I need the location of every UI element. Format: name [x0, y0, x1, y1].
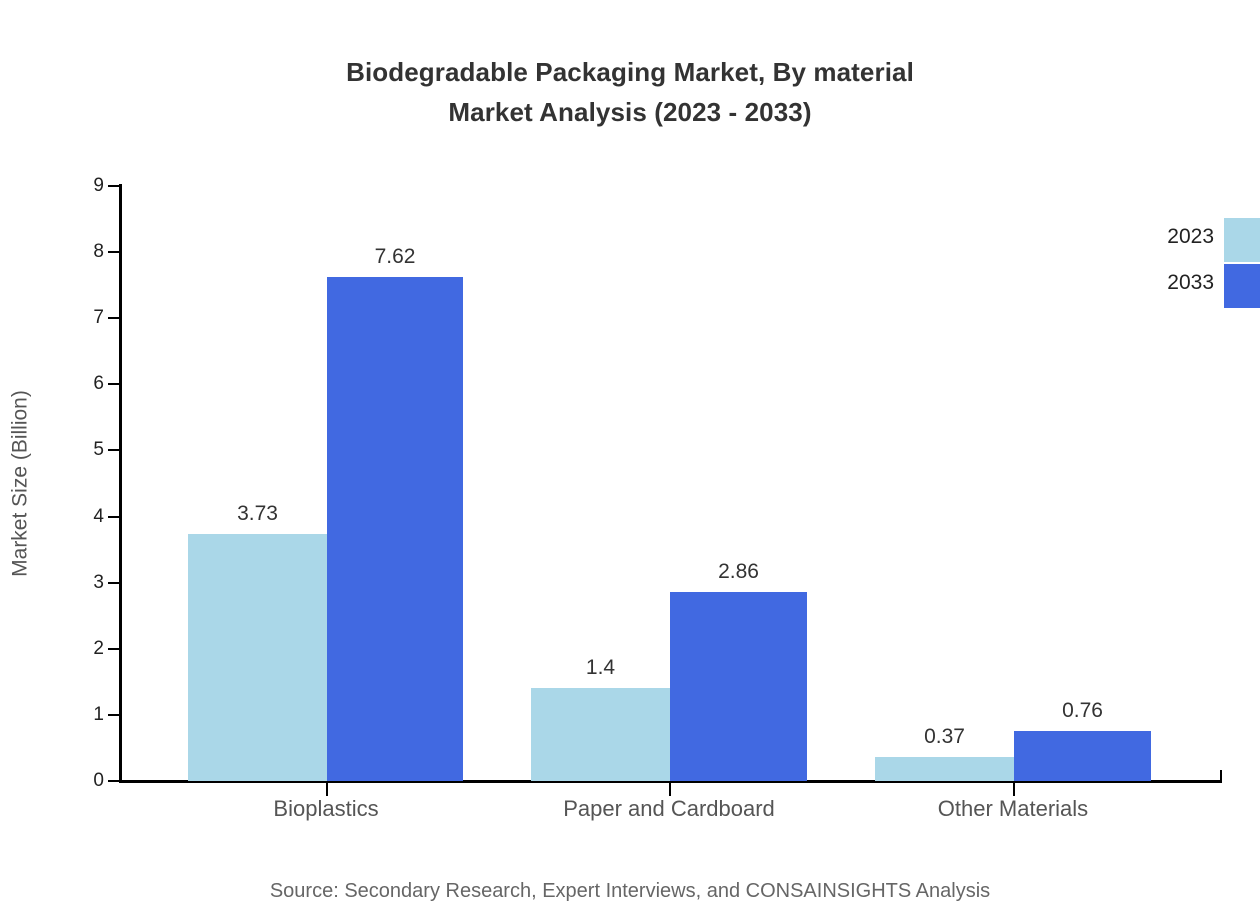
bar-2033-bioplastics[interactable]: [327, 277, 463, 781]
y-axis-tick: [108, 251, 122, 253]
y-axis-tick: [108, 317, 122, 319]
bar-value-label: 2.86: [669, 561, 809, 582]
y-axis-tick-label: 1: [64, 705, 104, 724]
chart-title: Biodegradable Packaging Market, By mater…: [0, 52, 1260, 132]
y-axis-title: Market Size (Billion): [0, 0, 40, 920]
x-axis-category-label: Bioplastics: [126, 795, 526, 823]
legend-item-2023[interactable]: 2023: [1130, 218, 1260, 264]
y-axis-tick-label: 7: [64, 308, 104, 327]
y-axis-tick-label: 8: [64, 242, 104, 261]
bar-2023-bioplastics[interactable]: [188, 534, 327, 781]
y-axis-tick: [108, 582, 122, 584]
y-axis-tick: [108, 383, 122, 385]
x-axis-category-label: Paper and Cardboard: [469, 795, 869, 823]
y-axis-tick-label: 9: [64, 176, 104, 195]
bar-2033-other-materials[interactable]: [1014, 731, 1151, 781]
bar-value-label: 1.4: [531, 657, 671, 678]
chart-title-line-1: Biodegradable Packaging Market, By mater…: [0, 52, 1260, 92]
chart-container: Biodegradable Packaging Market, By mater…: [0, 0, 1260, 920]
bar-2023-paper-and-cardboard[interactable]: [531, 688, 670, 781]
source-note: Source: Secondary Research, Expert Inter…: [0, 878, 1260, 904]
y-axis-tick-label: 5: [64, 440, 104, 459]
bar-2033-paper-and-cardboard[interactable]: [670, 592, 807, 781]
chart-title-line-2: Market Analysis (2023 - 2033): [0, 92, 1260, 132]
bar-value-label: 0.76: [1013, 700, 1153, 721]
legend-swatch-2033: [1224, 264, 1260, 308]
legend-item-2033[interactable]: 2033: [1130, 264, 1260, 310]
y-axis-tick: [108, 185, 122, 187]
y-axis-tick: [108, 780, 122, 782]
bar-value-label: 7.62: [325, 246, 465, 267]
x-axis-end-tick: [1220, 770, 1222, 783]
y-axis-tick-label: 3: [64, 573, 104, 592]
y-axis-title-label: Market Size (Billion): [10, 259, 31, 709]
bar-value-label: 3.73: [188, 503, 328, 524]
chart-legend: 2023 2033: [1130, 218, 1260, 318]
legend-swatch-2023: [1224, 218, 1260, 262]
y-axis-tick-label: 6: [64, 374, 104, 393]
y-axis-tick: [108, 449, 122, 451]
y-axis-tick: [108, 714, 122, 716]
plot-area: 3.737.621.42.860.370.76: [122, 186, 1222, 781]
legend-label-2023: 2023: [1130, 226, 1214, 247]
y-axis-tick-label: 4: [64, 507, 104, 526]
y-axis-tick: [108, 648, 122, 650]
bar-value-label: 0.37: [875, 726, 1015, 747]
y-axis-tick-label: 0: [64, 771, 104, 790]
bar-2023-other-materials[interactable]: [875, 757, 1014, 781]
legend-label-2033: 2033: [1130, 272, 1214, 293]
y-axis-tick: [108, 516, 122, 518]
y-axis-tick-label: 2: [64, 639, 104, 658]
x-axis-category-label: Other Materials: [813, 795, 1213, 823]
